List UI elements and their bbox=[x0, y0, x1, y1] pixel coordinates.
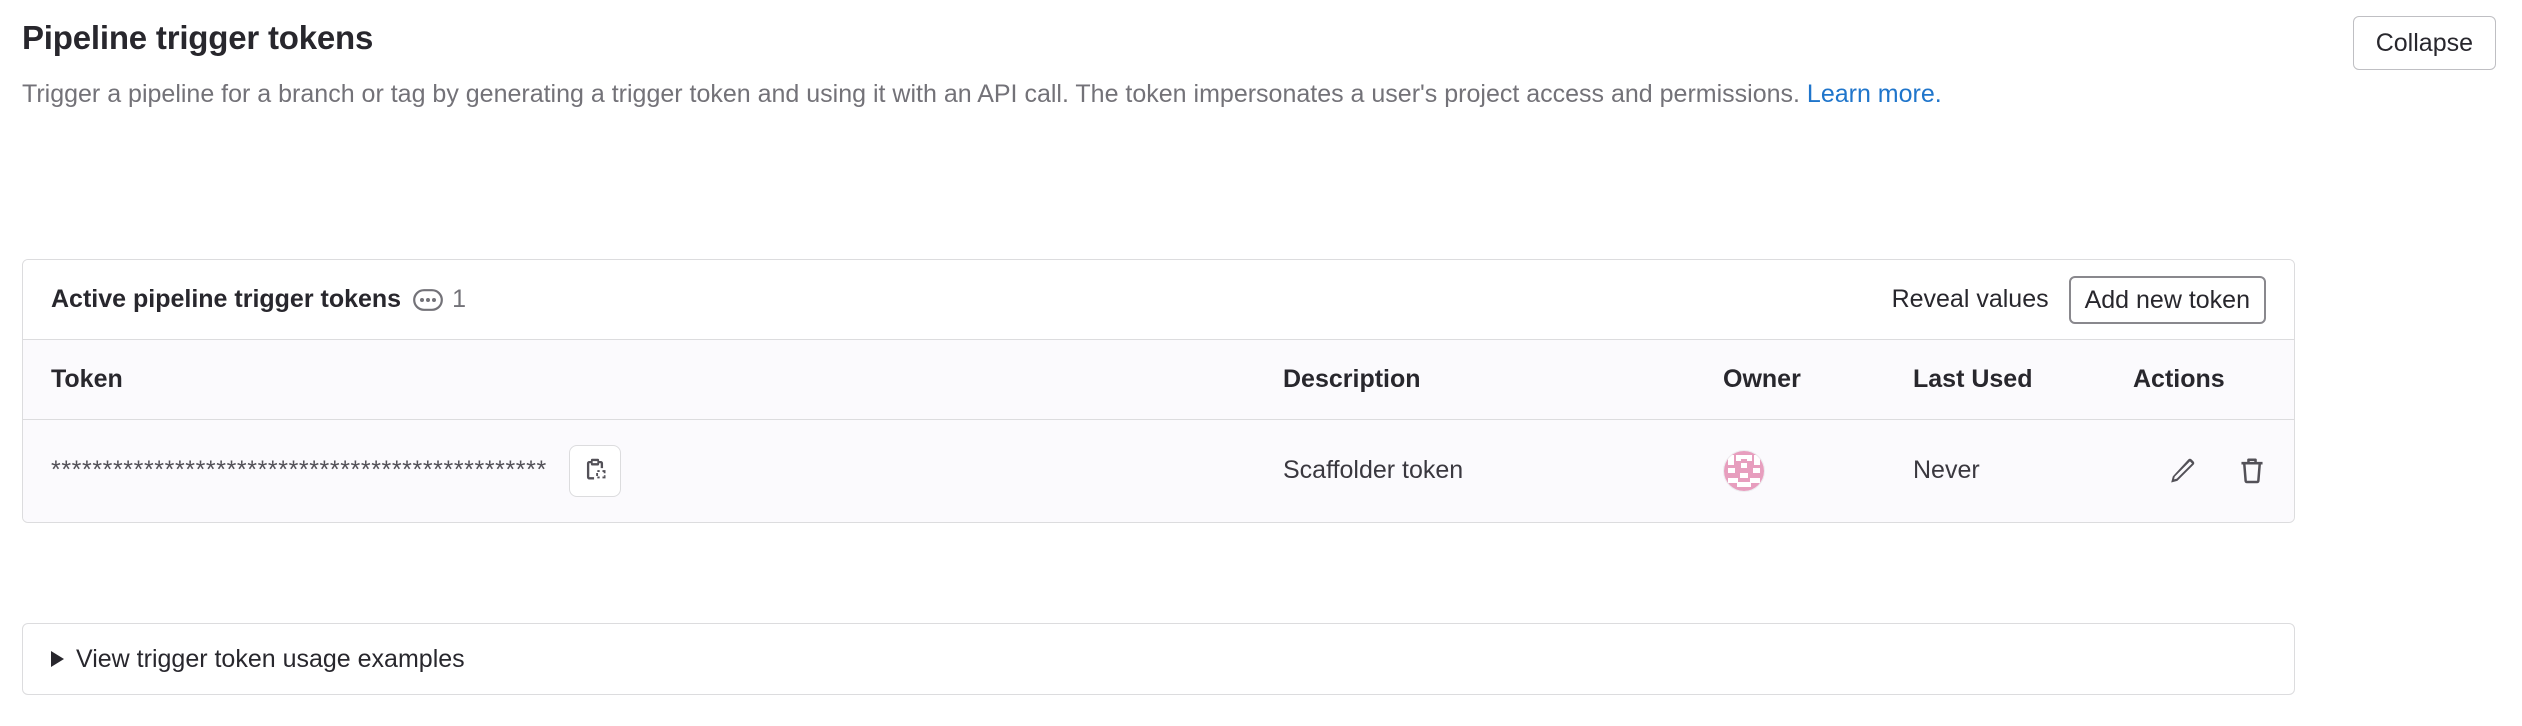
column-header-description: Description bbox=[1283, 340, 1723, 420]
collapse-button[interactable]: Collapse bbox=[2353, 16, 2496, 70]
usage-examples-label: View trigger token usage examples bbox=[76, 645, 465, 674]
user-identicon-avatar[interactable] bbox=[1723, 450, 1765, 492]
reveal-values-button[interactable]: Reveal values bbox=[1892, 285, 2049, 314]
copy-to-clipboard-icon bbox=[581, 455, 609, 486]
card-header-title: Active pipeline trigger tokens 1 bbox=[51, 285, 466, 314]
table-header-row: Token Description Owner Last Used Action… bbox=[23, 340, 2295, 420]
comment-pill-icon bbox=[413, 289, 443, 311]
triangle-right-icon bbox=[51, 651, 64, 667]
card-title-label: Active pipeline trigger tokens bbox=[51, 285, 401, 314]
column-header-actions: Actions bbox=[2133, 340, 2295, 420]
tokens-table: Token Description Owner Last Used Action… bbox=[23, 339, 2295, 522]
column-header-last-used: Last Used bbox=[1913, 340, 2133, 420]
trash-icon bbox=[2236, 455, 2268, 487]
delete-token-button[interactable] bbox=[2236, 455, 2268, 487]
token-count-value: 1 bbox=[452, 285, 466, 314]
section-description-text: Trigger a pipeline for a branch or tag b… bbox=[22, 80, 1807, 108]
cell-token: ****************************************… bbox=[23, 420, 1283, 522]
pipeline-trigger-tokens-page: Pipeline trigger tokens Trigger a pipeli… bbox=[0, 0, 2522, 726]
view-usage-examples-disclosure[interactable]: View trigger token usage examples bbox=[22, 623, 2295, 695]
cell-owner bbox=[1723, 420, 1913, 522]
learn-more-link[interactable]: Learn more. bbox=[1807, 80, 1942, 108]
masked-token-value: ****************************************… bbox=[51, 456, 547, 485]
card-header-actions: Reveal values Add new token bbox=[1892, 276, 2266, 324]
section-description: Trigger a pipeline for a branch or tag b… bbox=[22, 74, 2237, 115]
tokens-table-head: Token Description Owner Last Used Action… bbox=[23, 340, 2295, 420]
tokens-table-body: ****************************************… bbox=[23, 420, 2295, 522]
usage-examples-summary: View trigger token usage examples bbox=[51, 645, 465, 674]
copy-to-clipboard-button[interactable] bbox=[569, 445, 621, 497]
column-header-token: Token bbox=[23, 340, 1283, 420]
token-cell-inner: ****************************************… bbox=[51, 445, 1283, 497]
cell-last-used: Never bbox=[1913, 420, 2133, 522]
edit-token-button[interactable] bbox=[2166, 455, 2198, 487]
active-tokens-card: Active pipeline trigger tokens 1 Reveal … bbox=[22, 259, 2295, 523]
pencil-icon bbox=[2166, 455, 2198, 487]
add-new-token-button[interactable]: Add new token bbox=[2069, 276, 2266, 324]
section-header: Pipeline trigger tokens Trigger a pipeli… bbox=[22, 18, 2272, 115]
column-header-owner: Owner bbox=[1723, 340, 1913, 420]
cell-description: Scaffolder token bbox=[1283, 420, 1723, 522]
cell-actions bbox=[2133, 420, 2295, 522]
card-header: Active pipeline trigger tokens 1 Reveal … bbox=[23, 260, 2294, 339]
token-count-badge: 1 bbox=[413, 285, 466, 314]
row-actions bbox=[2133, 455, 2268, 487]
page-title: Pipeline trigger tokens bbox=[22, 18, 2272, 58]
table-row: ****************************************… bbox=[23, 420, 2295, 522]
